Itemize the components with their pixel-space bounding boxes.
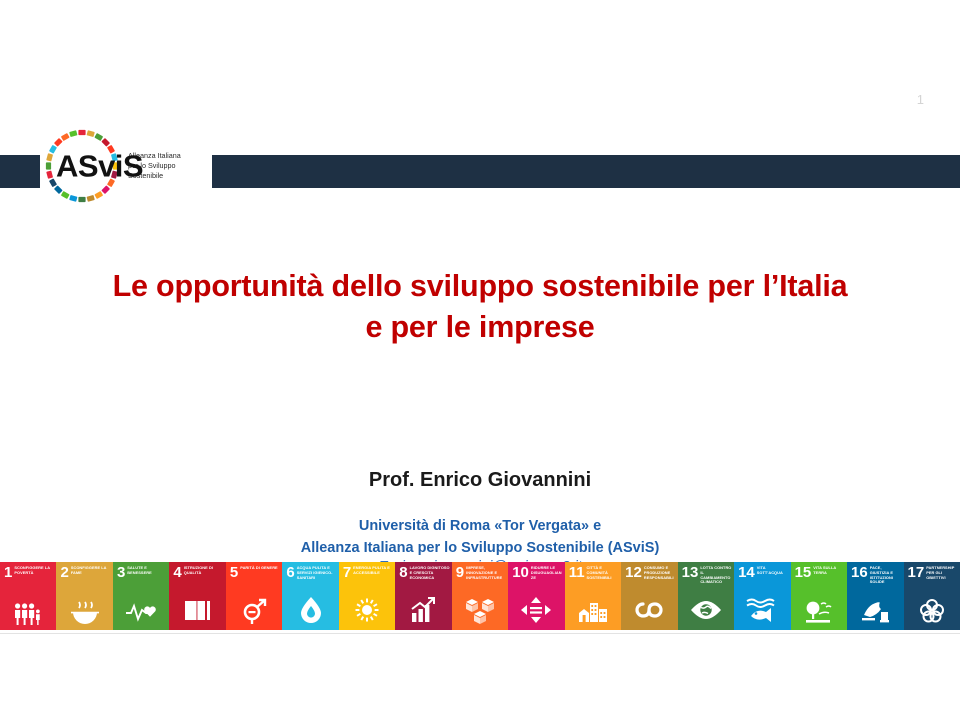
sdg-goal-9[interactable]: 9IMPRESE, INNOVAZIONE E INFRASTRUTTURE [452,562,508,630]
sdg-goal-number: 6 [286,565,294,580]
sdg-goal-label: LOTTA CONTRO IL CAMBIAMENTO CLIMATICO [700,565,732,585]
sdg-goal-header: 14VITA SOTT'ACQUA [734,562,790,580]
title-line-1: Le opportunità dello sviluppo sostenibil… [113,269,848,303]
sdg-goal-number: 13 [682,565,699,580]
sdg-goal-label: VITA SOTT'ACQUA [757,565,789,576]
sdg-goal-number: 9 [456,565,464,580]
affiliation-line-2: Alleanza Italiana per lo Sviluppo Sosten… [0,537,960,559]
asvis-wordmark: ASviS [56,151,143,182]
sdg-goal-number: 3 [117,565,125,580]
sdg-goal-label: LAVORO DIGNITOSO E CRESCITA ECONOMICA [410,565,450,580]
page-number: 1 [917,92,924,107]
growth-chart-icon [395,593,451,627]
sdg-goal-header: 8LAVORO DIGNITOSO E CRESCITA ECONOMICA [395,562,451,580]
sdg-goal-11[interactable]: 11CITTÀ E COMUNITÀ SOSTENIBILI [565,562,621,630]
sdg-goal-number: 1 [4,565,12,580]
sdg-goal-label: PACE, GIUSTIZIA E ISTITUZIONI SOLIDE [870,565,902,585]
sdg-goal-header: 13LOTTA CONTRO IL CAMBIAMENTO CLIMATICO [678,562,734,585]
affiliation: Università di Roma «Tor Vergata» e Allea… [0,515,960,560]
sdg-goal-4[interactable]: 4ISTRUZIONE DI QUALITÀ [169,562,225,630]
sdg-goal-17[interactable]: 17PARTNERSHIP PER GLI OBIETTIVI [904,562,960,630]
sdg-goal-header: 4ISTRUZIONE DI QUALITÀ [169,562,225,580]
arrows-equal-icon [508,593,564,627]
sdg-goal-12[interactable]: 12CONSUMO E PRODUZIONE RESPONSABILI [621,562,677,630]
sdg-goal-15[interactable]: 15VITA SULLA TERRA [791,562,847,630]
sdg-goal-label: SCONFIGGERE LA POVERTÀ [14,565,54,576]
author-name: Prof. Enrico Giovannini [0,469,960,492]
sdg-goal-6[interactable]: 6ACQUA PULITA E SERVIZI IGIENICO-SANITAR… [282,562,338,630]
sdg-goal-number: 10 [512,565,529,580]
sdg-goal-header: 3SALUTE E BENESSERE [113,562,169,580]
cubes-icon [452,593,508,627]
sdg-goal-label: ISTRUZIONE DI QUALITÀ [184,565,224,576]
sun-icon [339,593,395,627]
sdg-goal-header: 6ACQUA PULITA E SERVIZI IGIENICO-SANITAR… [282,562,338,580]
title-heading: Le opportunità dello sviluppo sostenibil… [0,266,960,348]
asvis-logo: ASviS Alleanza Italiana per lo Sviluppo … [40,122,212,210]
sdg-goal-header: 7ENERGIA PULITA E ACCESSIBILE [339,562,395,580]
eye-globe-icon [678,593,734,627]
sdg-goal-number: 11 [569,565,585,580]
sdg-goal-header: 15VITA SULLA TERRA [791,562,847,580]
page-title: Le opportunità dello sviluppo sostenibil… [0,266,960,348]
sdg-goal-10[interactable]: 10RIDURRE LE DISUGUAGLIANZE [508,562,564,630]
title-line-2: e per le imprese [365,310,594,344]
sdg-goal-header: 9IMPRESE, INNOVAZIONE E INFRASTRUTTURE [452,562,508,580]
sdg-goal-number: 4 [173,565,181,580]
infinity-icon [621,593,677,627]
bowl-icon [56,593,112,627]
sdg-goal-label: VITA SULLA TERRA [813,565,845,576]
sdg-goal-number: 12 [625,565,642,580]
sdg-goal-7[interactable]: 7ENERGIA PULITA E ACCESSIBILE [339,562,395,630]
tree-birds-icon [791,593,847,627]
sdg-goal-label: ENERGIA PULITA E ACCESSIBILE [353,565,393,576]
sdg-goal-header: 17PARTNERSHIP PER GLI OBIETTIVI [904,562,960,580]
sdg-goal-header: 5PARITÀ DI GENERE [226,562,282,580]
sdg-goal-3[interactable]: 3SALUTE E BENESSERE [113,562,169,630]
sdg-goal-label: RIDURRE LE DISUGUAGLIANZE [531,565,563,580]
fish-icon [734,593,790,627]
sdg-goal-number: 16 [851,565,868,580]
sdg-goal-label: CONSUMO E PRODUZIONE RESPONSABILI [644,565,676,580]
sdg-goal-13[interactable]: 13LOTTA CONTRO IL CAMBIAMENTO CLIMATICO [678,562,734,630]
sdg-goal-header: 16PACE, GIUSTIZIA E ISTITUZIONI SOLIDE [847,562,903,585]
sdg-goal-5[interactable]: 5PARITÀ DI GENERE [226,562,282,630]
sdg-goal-2[interactable]: 2SCONFIGGERE LA FAME [56,562,112,630]
affiliation-line-1: Università di Roma «Tor Vergata» e [0,515,960,537]
sdg-goal-8[interactable]: 8LAVORO DIGNITOSO E CRESCITA ECONOMICA [395,562,451,630]
sdg-goal-header: 11CITTÀ E COMUNITÀ SOSTENIBILI [565,562,621,580]
city-icon [565,593,621,627]
sdg-goal-1[interactable]: 1SCONFIGGERE LA POVERTÀ [0,562,56,630]
sdg-goal-number: 5 [230,565,238,580]
sdg-goal-label: PARTNERSHIP PER GLI OBIETTIVI [926,565,958,580]
sdg-goal-label: SCONFIGGERE LA FAME [71,565,111,576]
water-drop-icon [282,593,338,627]
sdg-goal-number: 15 [795,565,812,580]
sdg-goal-label: CITTÀ E COMUNITÀ SOSTENIBILI [587,565,620,580]
sdg-goal-14[interactable]: 14VITA SOTT'ACQUA [734,562,790,630]
sdg-goal-header: 2SCONFIGGERE LA FAME [56,562,112,580]
sdg-goal-number: 7 [343,565,351,580]
heartbeat-icon [113,593,169,627]
sdg-goal-label: ACQUA PULITA E SERVIZI IGIENICO-SANITARI [297,565,337,580]
sdg-goal-number: 2 [60,565,68,580]
sdg-goal-header: 10RIDURRE LE DISUGUAGLIANZE [508,562,564,580]
sdg-goal-label: SALUTE E BENESSERE [127,565,167,576]
sdg-goal-number: 17 [908,565,925,580]
sdg-goals-banner: 1SCONFIGGERE LA POVERTÀ2SCONFIGGERE LA F… [0,562,960,630]
sdg-goal-number: 8 [399,565,407,580]
sdg-goal-header: 1SCONFIGGERE LA POVERTÀ [0,562,56,580]
circles-icon [904,593,960,627]
sdg-goal-16[interactable]: 16PACE, GIUSTIZIA E ISTITUZIONI SOLIDE [847,562,903,630]
dove-gavel-icon [847,593,903,627]
sdg-goal-label: IMPRESE, INNOVAZIONE E INFRASTRUTTURE [466,565,506,580]
book-icon [169,593,225,627]
asvis-ring-icon: ASviS [40,124,124,208]
sdg-goal-number: 14 [738,565,755,580]
sdg-goal-label: PARITÀ DI GENERE [240,565,277,571]
gender-icon [226,593,282,627]
people-icon [0,593,56,627]
bottom-divider [0,633,960,634]
sdg-goal-header: 12CONSUMO E PRODUZIONE RESPONSABILI [621,562,677,580]
